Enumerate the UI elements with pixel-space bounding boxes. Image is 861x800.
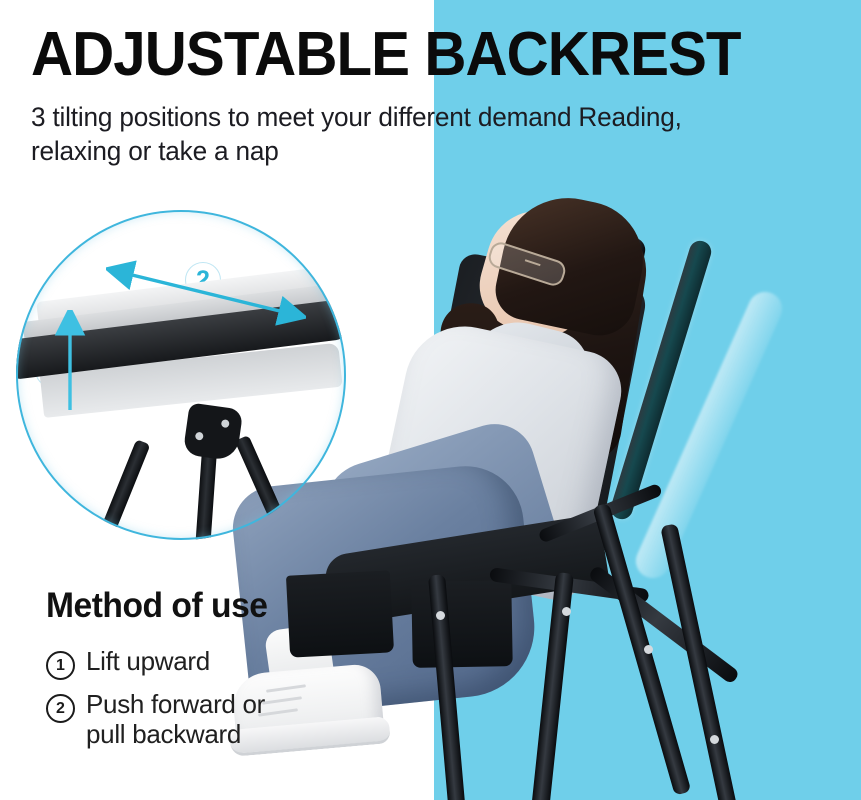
method-step: 1 Lift upward [46, 646, 286, 680]
subheadline-line-1: 3 tilting positions to meet your differe… [31, 102, 682, 132]
step-text: Push forward or pull backward [86, 689, 286, 749]
subheadline-line-2: relaxing or take a nap [31, 135, 826, 169]
step-number: 2 [46, 694, 75, 723]
method-of-use-list: 1 Lift upward 2 Push forward or pull bac… [46, 646, 286, 749]
chair-side-pocket [411, 580, 512, 668]
frame-rivet [710, 735, 719, 744]
callout-ring [16, 210, 346, 540]
page-title: ADJUSTABLE BACKREST [31, 24, 783, 86]
product-feature-poster: ADJUSTABLE BACKREST 3 tilting positions … [0, 0, 861, 800]
method-of-use-title: Method of use [46, 586, 276, 626]
frame-rivet [562, 607, 571, 616]
subheadline: 3 tilting positions to meet your differe… [31, 101, 826, 169]
step-number: 1 [46, 651, 75, 680]
detail-callout-circle [16, 210, 346, 540]
frame-rivet [436, 611, 445, 620]
chair-frame-brace [587, 565, 740, 685]
step-text: Lift upward [86, 646, 210, 676]
method-of-use-block: Method of use 1 Lift upward 2 Push forwa… [46, 586, 286, 758]
chair-side-pocket [286, 570, 394, 657]
method-step: 2 Push forward or pull backward [46, 689, 286, 749]
frame-rivet [644, 645, 653, 654]
